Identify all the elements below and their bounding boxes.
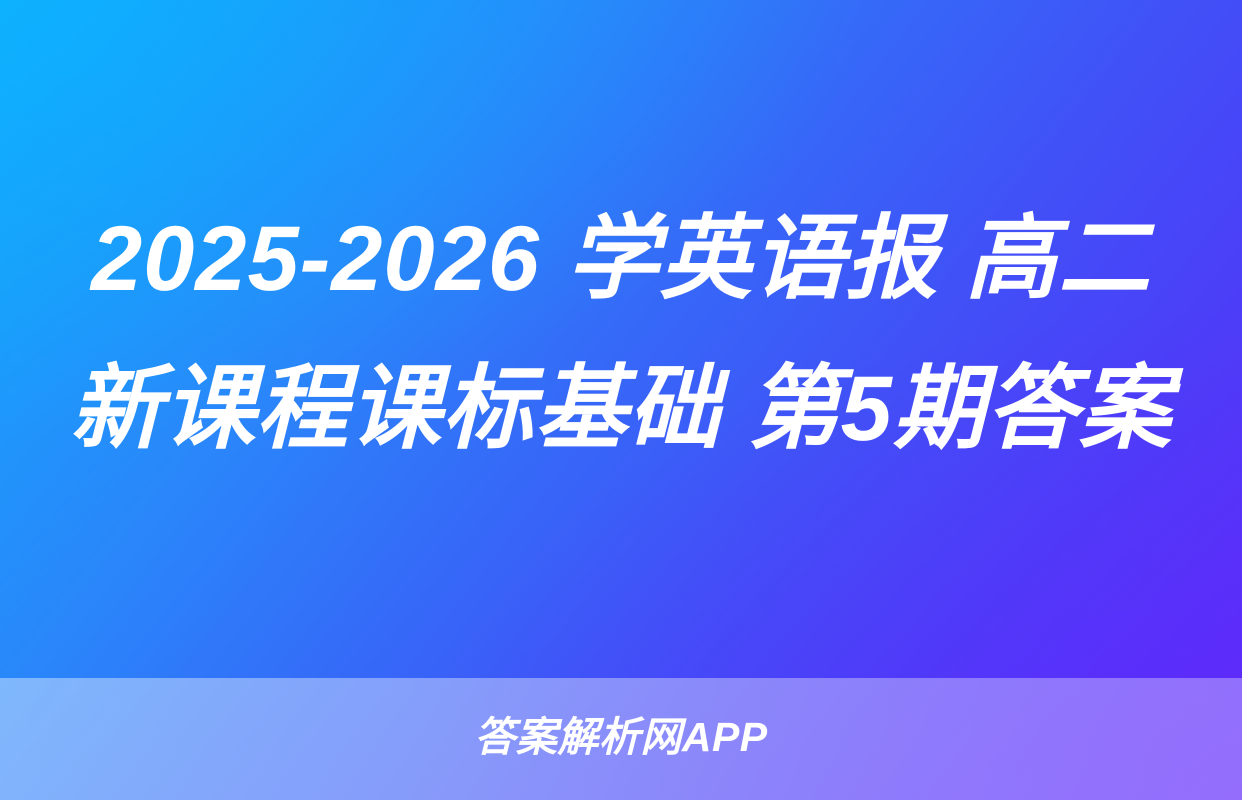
- title-block: 2025-2026 学英语报 高二 新课程课标基础 第5期答案: [0, 0, 1242, 678]
- footer-brand-band: 答案解析网APP: [0, 678, 1242, 800]
- promo-banner: 2025-2026 学英语报 高二 新课程课标基础 第5期答案 答案解析网APP: [0, 0, 1242, 800]
- page-title: 2025-2026 学英语报 高二 新课程课标基础 第5期答案: [46, 184, 1196, 484]
- app-brand-label: 答案解析网APP: [474, 717, 767, 758]
